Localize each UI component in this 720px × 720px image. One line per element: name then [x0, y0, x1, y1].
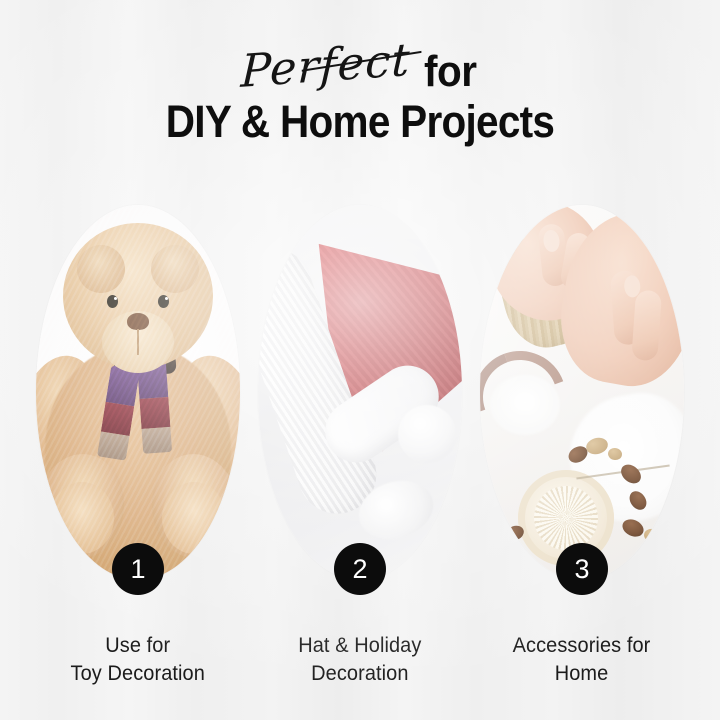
- feather-cluster-left: [490, 375, 560, 435]
- headline-line-1: Perfect for: [0, 38, 720, 96]
- card-caption-3: Accessories for Home: [513, 632, 651, 689]
- card-caption-1: Use for Toy Decoration: [71, 632, 205, 689]
- santa-hat-image: [258, 205, 462, 580]
- headline-line-2: DIY & Home Projects: [36, 98, 684, 145]
- headline-script-word: Perfect: [238, 36, 415, 96]
- caption-line-1: Hat & Holiday: [298, 632, 421, 660]
- headline-bold-word: for: [424, 50, 477, 96]
- caption-line-1: Use for: [71, 632, 205, 660]
- hat-soft-light: [258, 205, 462, 580]
- bear-fur-texture: [36, 205, 240, 580]
- caption-line-2: Home: [513, 660, 651, 688]
- step-badge-1: 1: [112, 543, 164, 595]
- page-title: Perfect for DIY & Home Projects: [0, 38, 720, 145]
- promo-banner: Perfect for DIY & Home Projects: [0, 0, 720, 720]
- craft-dreamcatcher-image: [480, 205, 684, 580]
- card-caption-2: Hat & Holiday Decoration: [298, 632, 421, 689]
- teddy-bear-image: [36, 205, 240, 580]
- step-badge-2: 2: [334, 543, 386, 595]
- feature-card-toy-decoration[interactable]: 1 Use for Toy Decoration: [36, 205, 240, 689]
- feature-card-accessories-home[interactable]: 3 Accessories for Home: [480, 205, 684, 689]
- caption-line-2: Decoration: [298, 660, 421, 688]
- caption-line-2: Toy Decoration: [71, 660, 205, 688]
- feature-card-hat-holiday[interactable]: 2 Hat & Holiday Decoration: [258, 205, 462, 689]
- caption-line-1: Accessories for: [513, 632, 651, 660]
- feature-cards-row: 1 Use for Toy Decoration 2: [0, 205, 720, 689]
- step-badge-3: 3: [556, 543, 608, 595]
